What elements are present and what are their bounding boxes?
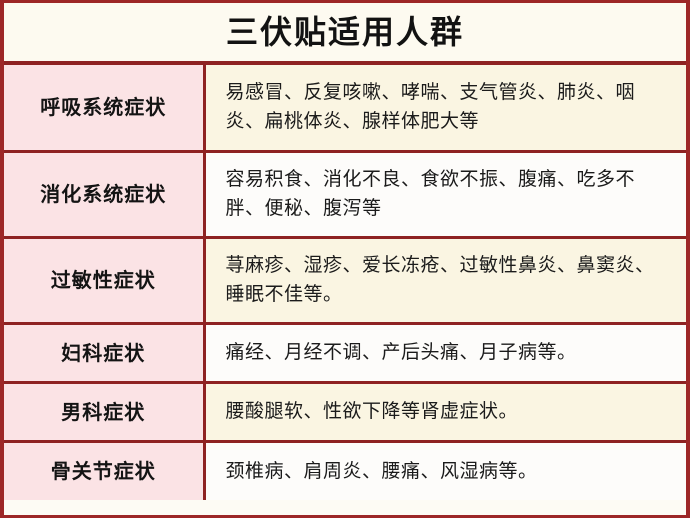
- table-row: 妇科症状 痛经、月经不调、产后头痛、月子病等。: [4, 323, 686, 382]
- table-row: 骨关节症状 颈椎病、肩周炎、腰痛、风湿病等。: [4, 441, 686, 500]
- description-text: 易感冒、反复咳嗽、哮喘、支气管炎、肺炎、咽炎、扁桃体炎、腺样体肥大等: [226, 78, 673, 137]
- symptom-table-body: 呼吸系统症状 易感冒、反复咳嗽、哮喘、支气管炎、肺炎、咽炎、扁桃体炎、腺样体肥大…: [4, 65, 686, 500]
- category-cell: 呼吸系统症状: [4, 65, 204, 151]
- description-text: 荨麻疹、湿疹、爱长冻疮、过敏性鼻炎、鼻窦炎、睡眠不佳等。: [226, 251, 673, 310]
- table-row: 呼吸系统症状 易感冒、反复咳嗽、哮喘、支气管炎、肺炎、咽炎、扁桃体炎、腺样体肥大…: [4, 65, 686, 151]
- poster-title-band: 三伏贴适用人群: [4, 3, 686, 65]
- category-cell: 消化系统症状: [4, 151, 204, 237]
- description-cell: 腰酸腿软、性欲下降等肾虚症状。: [204, 382, 686, 441]
- category-label: 男科症状: [8, 399, 199, 425]
- page-title: 三伏贴适用人群: [226, 16, 464, 48]
- category-label: 骨关节症状: [8, 458, 199, 484]
- category-cell: 妇科症状: [4, 323, 204, 382]
- category-cell: 男科症状: [4, 382, 204, 441]
- description-cell: 痛经、月经不调、产后头痛、月子病等。: [204, 323, 686, 382]
- table-row: 消化系统症状 容易积食、消化不良、食欲不振、腹痛、吃多不胖、便秘、腹泻等: [4, 151, 686, 237]
- description-text: 腰酸腿软、性欲下降等肾虚症状。: [226, 397, 673, 426]
- symptom-table: 呼吸系统症状 易感冒、反复咳嗽、哮喘、支气管炎、肺炎、咽炎、扁桃体炎、腺样体肥大…: [4, 65, 686, 500]
- category-cell: 骨关节症状: [4, 441, 204, 500]
- category-label: 消化系统症状: [8, 181, 199, 207]
- description-cell: 荨麻疹、湿疹、爱长冻疮、过敏性鼻炎、鼻窦炎、睡眠不佳等。: [204, 237, 686, 323]
- table-row: 过敏性症状 荨麻疹、湿疹、爱长冻疮、过敏性鼻炎、鼻窦炎、睡眠不佳等。: [4, 237, 686, 323]
- category-label: 妇科症状: [8, 340, 199, 366]
- description-text: 痛经、月经不调、产后头痛、月子病等。: [226, 338, 673, 367]
- symptom-poster: 三伏贴适用人群 呼吸系统症状 易感冒、反复咳嗽、哮喘、支气管炎、肺炎、咽炎、扁桃…: [0, 0, 690, 518]
- description-cell: 容易积食、消化不良、食欲不振、腹痛、吃多不胖、便秘、腹泻等: [204, 151, 686, 237]
- category-label: 过敏性症状: [8, 267, 199, 293]
- description-text: 颈椎病、肩周炎、腰痛、风湿病等。: [226, 457, 673, 486]
- category-cell: 过敏性症状: [4, 237, 204, 323]
- description-cell: 易感冒、反复咳嗽、哮喘、支气管炎、肺炎、咽炎、扁桃体炎、腺样体肥大等: [204, 65, 686, 151]
- category-label: 呼吸系统症状: [8, 94, 199, 120]
- description-text: 容易积食、消化不良、食欲不振、腹痛、吃多不胖、便秘、腹泻等: [226, 165, 673, 224]
- table-row: 男科症状 腰酸腿软、性欲下降等肾虚症状。: [4, 382, 686, 441]
- description-cell: 颈椎病、肩周炎、腰痛、风湿病等。: [204, 441, 686, 500]
